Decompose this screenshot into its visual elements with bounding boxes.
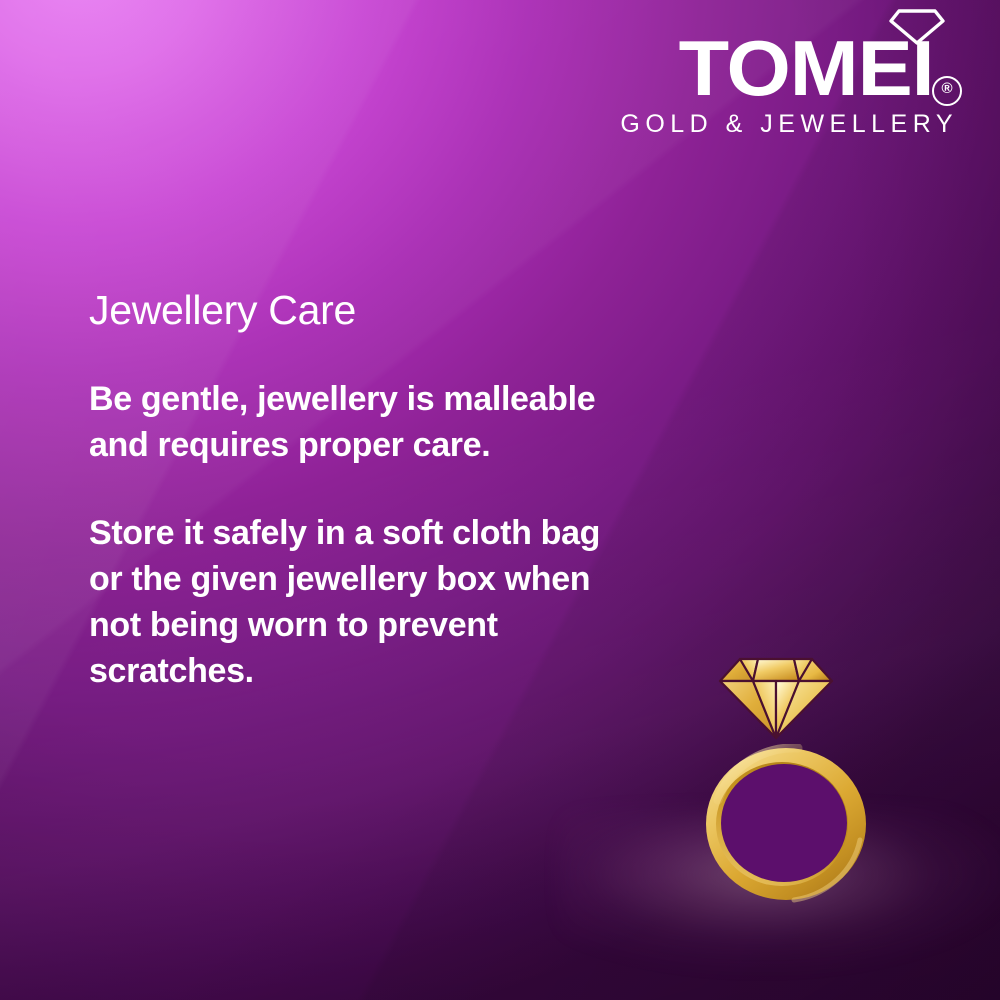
diamond-gem-icon bbox=[718, 648, 834, 740]
jewellery-care-poster: TOMEI ® GOLD & JEWELLERY Jewellery Care … bbox=[0, 0, 1000, 1000]
copy-block: Jewellery Care Be gentle, jewellery is m… bbox=[89, 288, 649, 694]
gold-ring-band-icon bbox=[702, 744, 870, 904]
brand-tagline: GOLD & JEWELLERY bbox=[620, 112, 958, 137]
brand-logo: TOMEI ® GOLD & JEWELLERY bbox=[648, 4, 978, 140]
care-paragraph-1: Be gentle, jewellery is malleable and re… bbox=[89, 376, 634, 468]
brand-wordmark: TOMEI bbox=[679, 29, 934, 107]
registered-trademark-mark: ® bbox=[932, 76, 962, 106]
diamond-ring-illustration bbox=[688, 648, 884, 904]
care-paragraph-2: Store it safely in a soft cloth bag or t… bbox=[89, 510, 634, 694]
page-title: Jewellery Care bbox=[89, 288, 649, 334]
